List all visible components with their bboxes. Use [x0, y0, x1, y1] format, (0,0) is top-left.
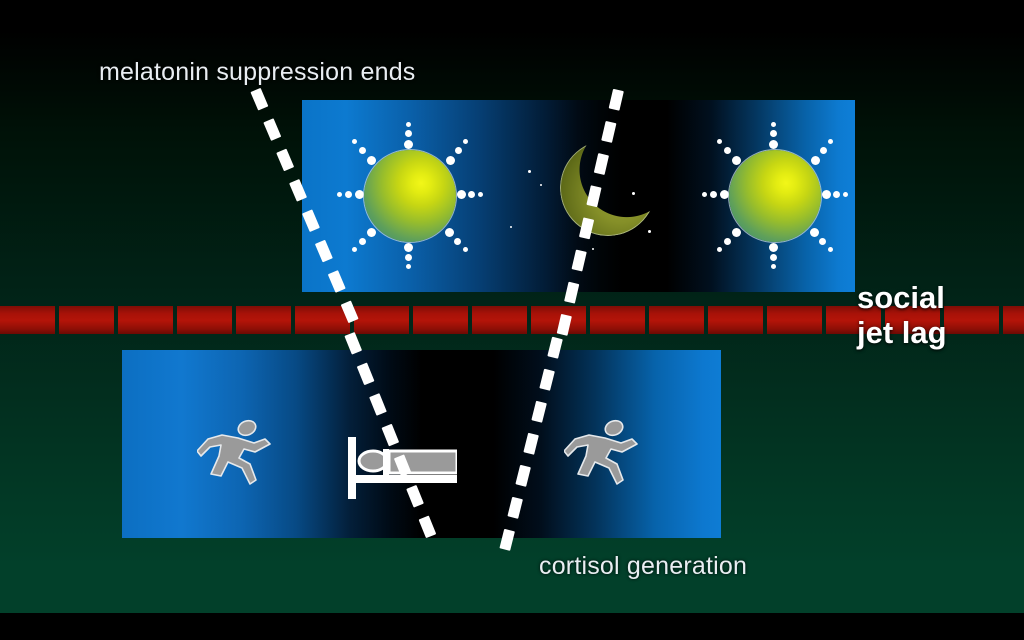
- social-jet-lag-line2: jet lag: [857, 316, 947, 351]
- sun-disc: [364, 150, 456, 242]
- social-jet-lag-line1: social: [857, 281, 947, 316]
- jet-lag-segment: [1003, 306, 1024, 334]
- runner-icon: [564, 414, 642, 506]
- jet-lag-segment: [354, 306, 409, 334]
- jet-lag-segment: [944, 306, 999, 334]
- sun-icon: [700, 121, 850, 271]
- runner-icon: [197, 414, 275, 506]
- sun-disc: [729, 150, 821, 242]
- jet-lag-segment: [590, 306, 645, 334]
- jet-lag-segment: [413, 306, 468, 334]
- jet-lag-segment: [59, 306, 114, 334]
- jet-lag-segment: [177, 306, 232, 334]
- jet-lag-segment: [767, 306, 822, 334]
- letterbox-top: [0, 0, 1024, 30]
- jet-lag-segment: [649, 306, 704, 334]
- jet-lag-segment: [236, 306, 291, 334]
- jet-lag-segment: [295, 306, 350, 334]
- melatonin-label: melatonin suppression ends: [99, 58, 416, 87]
- jet-lag-segment: [118, 306, 173, 334]
- letterbox-bottom: [0, 613, 1024, 640]
- jet-lag-segment: [472, 306, 527, 334]
- figure-canvas: melatonin suppression ends cortisol gene…: [0, 0, 1024, 640]
- social-jet-lag-label: social jet lag: [857, 281, 947, 350]
- sun-icon: [335, 121, 485, 271]
- cortisol-label: cortisol generation: [539, 552, 747, 581]
- jet-lag-segment: [0, 306, 55, 334]
- jet-lag-segment: [708, 306, 763, 334]
